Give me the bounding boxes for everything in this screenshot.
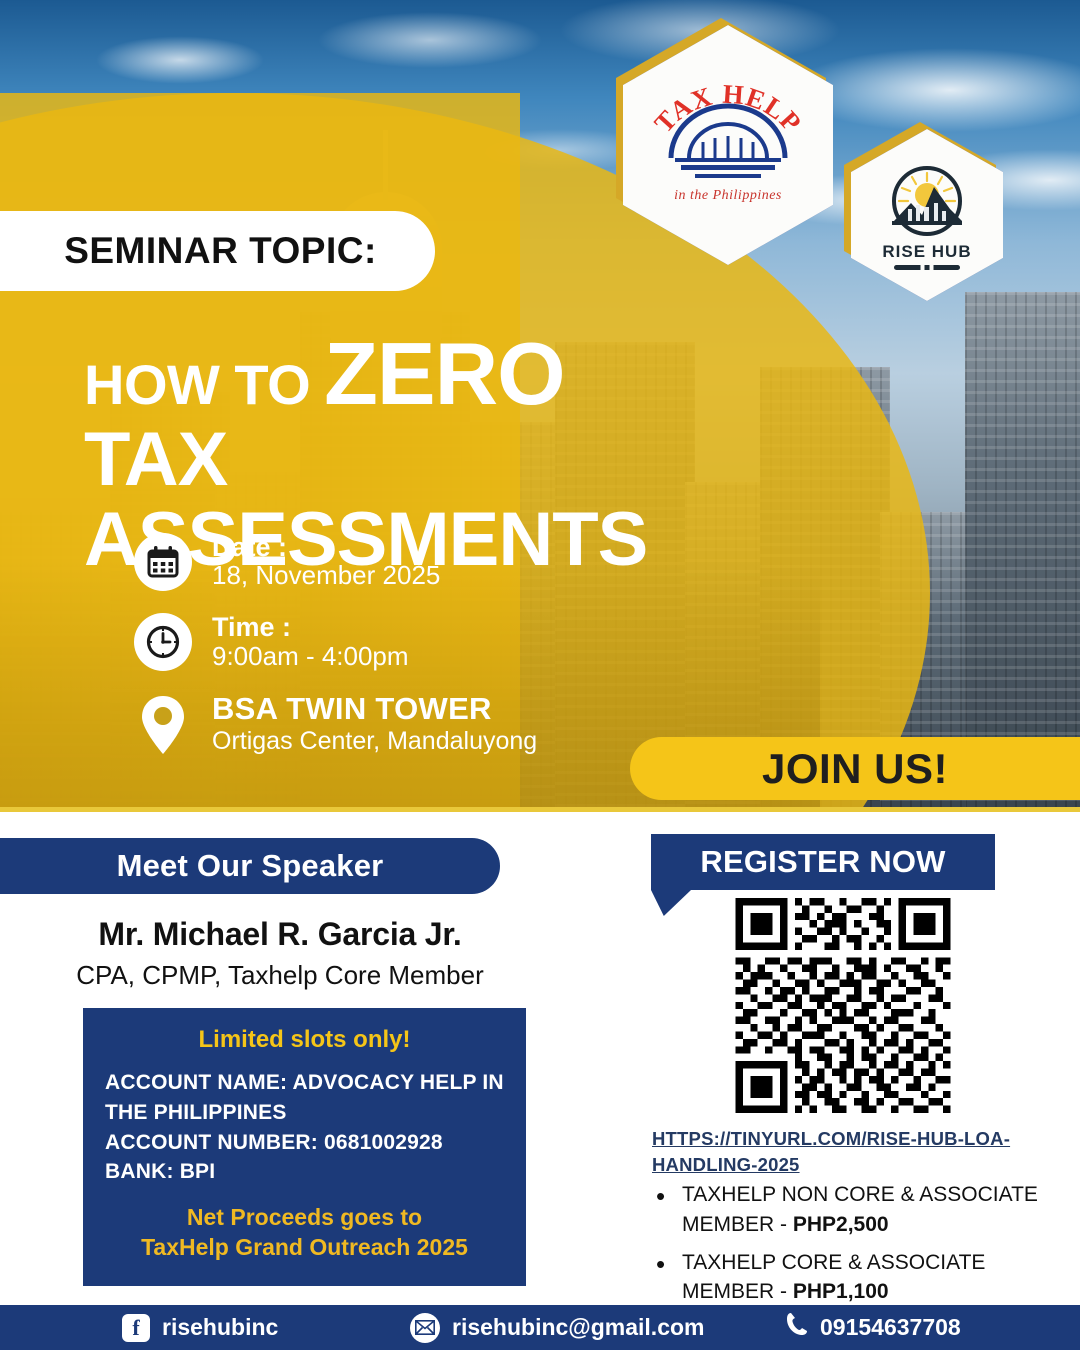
price-amount-1: PHP1,100 bbox=[793, 1280, 889, 1303]
registration-qr-code[interactable] bbox=[714, 898, 972, 1113]
venue-name: BSA TWIN TOWER bbox=[212, 693, 537, 726]
price-list: TAXHELP NON CORE & ASSOCIATE MEMBER - PH… bbox=[648, 1180, 1038, 1315]
risehub-name: RISE HUB bbox=[882, 242, 971, 262]
speaker-section-header: Meet Our Speaker bbox=[0, 838, 500, 894]
net-proceeds-line2: TaxHelp Grand Outreach 2025 bbox=[105, 1233, 504, 1263]
net-proceeds-note: Net Proceeds goes to TaxHelp Grand Outre… bbox=[105, 1203, 504, 1263]
risehub-logo: RISE HUB bbox=[844, 122, 996, 294]
register-now-label: REGISTER NOW bbox=[700, 844, 945, 880]
risehub-mountain-sun-icon bbox=[878, 161, 976, 241]
join-us-label: JOIN US! bbox=[762, 745, 948, 793]
time-label: Time : bbox=[212, 613, 409, 641]
join-us-banner: JOIN US! bbox=[630, 737, 1080, 800]
email-address: risehubinc@gmail.com bbox=[452, 1314, 704, 1341]
list-item: TAXHELP NON CORE & ASSOCIATE MEMBER - PH… bbox=[648, 1180, 1038, 1240]
register-now-banner: REGISTER NOW bbox=[651, 834, 995, 890]
location-pin-icon bbox=[134, 694, 192, 756]
limited-slots-note: Limited slots only! bbox=[105, 1026, 504, 1054]
risehub-underline bbox=[894, 265, 960, 270]
event-date-row: Date : 18, November 2025 bbox=[134, 533, 654, 591]
registration-link[interactable]: HTTPS://TINYURL.COM/RISE-HUB-LOA-HANDLIN… bbox=[652, 1126, 1016, 1177]
price-amount-0: PHP2,500 bbox=[793, 1213, 889, 1236]
phone-icon bbox=[786, 1312, 808, 1343]
seminar-topic-label: SEMINAR TOPIC: bbox=[28, 230, 377, 272]
clock-icon bbox=[134, 613, 192, 671]
event-venue-row: BSA TWIN TOWER Ortigas Center, Mandaluyo… bbox=[134, 693, 654, 756]
taxhelp-bridge-emblem-icon bbox=[665, 102, 791, 180]
list-item: TAXHELP CORE & ASSOCIATE MEMBER - PHP1,1… bbox=[648, 1248, 1038, 1308]
account-name: ACCOUNT NAME: ADVOCACY HELP IN THE PHILI… bbox=[105, 1068, 504, 1128]
payment-details-box: Limited slots only! ACCOUNT NAME: ADVOCA… bbox=[83, 1008, 526, 1286]
envelope-icon bbox=[410, 1313, 440, 1343]
headline-zero: ZERO bbox=[324, 330, 564, 418]
speaker-name: Mr. Michael R. Garcia Jr. bbox=[0, 916, 560, 953]
net-proceeds-line1: Net Proceeds goes to bbox=[105, 1203, 504, 1233]
email-contact[interactable]: risehubinc@gmail.com bbox=[410, 1313, 704, 1343]
register-banner-tail bbox=[651, 890, 691, 916]
facebook-icon: f bbox=[122, 1314, 150, 1342]
venue-address: Ortigas Center, Mandaluyong bbox=[212, 726, 537, 756]
taxhelp-logo: TAX HELP in the Philippines bbox=[616, 18, 826, 258]
seminar-topic-pill: SEMINAR TOPIC: bbox=[0, 211, 435, 291]
date-label: Date : bbox=[212, 533, 440, 561]
headline-prefix: HOW TO bbox=[84, 357, 310, 413]
bank-name: BANK: BPI bbox=[105, 1157, 504, 1187]
account-number: ACCOUNT NUMBER: 0681002928 bbox=[105, 1128, 504, 1158]
time-value: 9:00am - 4:00pm bbox=[212, 642, 409, 672]
phone-contact[interactable]: 09154637708 bbox=[786, 1312, 961, 1343]
facebook-contact[interactable]: f risehubinc bbox=[122, 1314, 278, 1342]
taxhelp-sublabel: in the Philippines bbox=[643, 188, 813, 204]
speaker-credentials: CPA, CPMP, Taxhelp Core Member bbox=[0, 960, 560, 991]
facebook-handle: risehubinc bbox=[162, 1314, 278, 1341]
event-time-row: Time : 9:00am - 4:00pm bbox=[134, 613, 654, 671]
date-value: 18, November 2025 bbox=[212, 561, 440, 591]
calendar-icon bbox=[134, 533, 192, 591]
contact-footer: f risehubinc risehubinc@gmail.com 091546… bbox=[0, 1305, 1080, 1350]
phone-number: 09154637708 bbox=[820, 1314, 961, 1341]
event-details: Date : 18, November 2025 Time : 9:00am -… bbox=[134, 533, 654, 778]
speaker-section-title: Meet Our Speaker bbox=[117, 848, 384, 884]
